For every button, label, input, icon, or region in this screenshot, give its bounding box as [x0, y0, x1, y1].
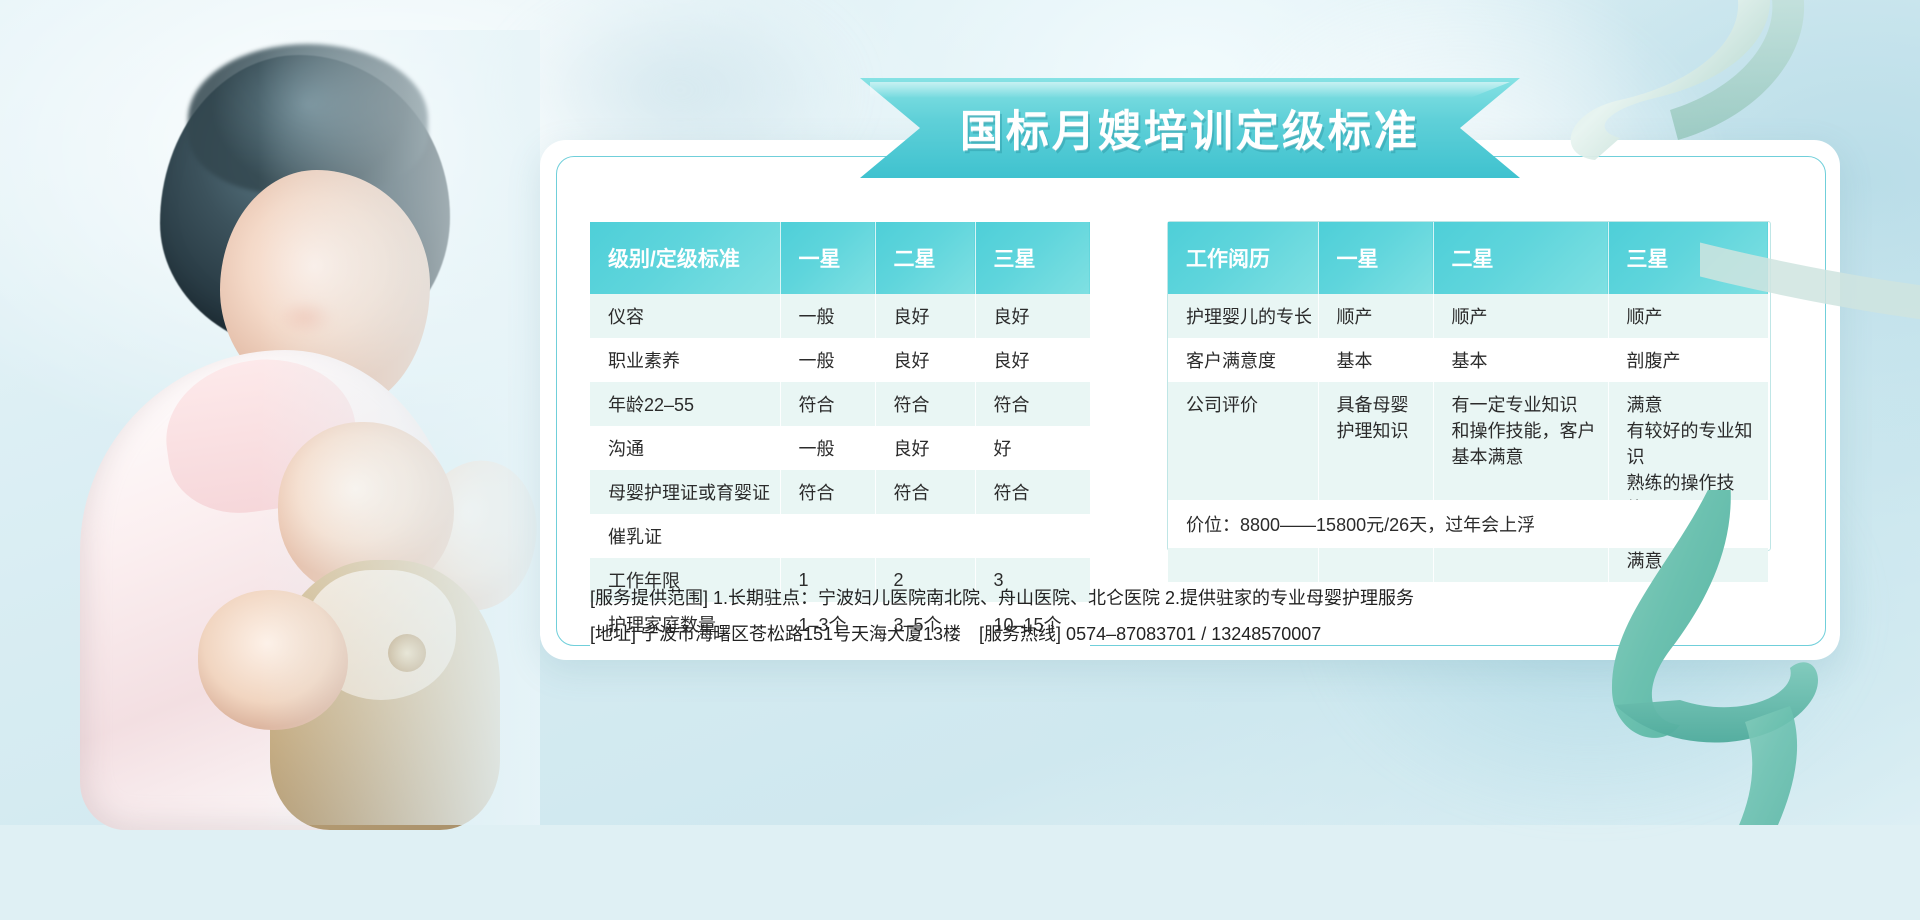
- row-value-cell: 顺产: [1433, 294, 1608, 338]
- col-header-one-star: 一星: [1318, 222, 1433, 294]
- table-header-row: 工作阅历 一星 二星 三星: [1168, 222, 1768, 294]
- row-value-cell: 符合: [875, 470, 975, 514]
- row-label-cell: 沟通: [590, 426, 780, 470]
- row-value-cell: 有一定专业知识和操作技能，客户基本满意: [1433, 382, 1608, 582]
- col-header-three-star: 三星: [1608, 222, 1768, 294]
- table-row: 沟通一般良好好: [590, 426, 1090, 470]
- col-header-one-star: 一星: [780, 222, 875, 294]
- nanny-and-baby-photo: [70, 30, 540, 825]
- table-row: 催乳证: [590, 514, 1090, 558]
- row-label-cell: 母婴护理证或育婴证: [590, 470, 780, 514]
- table-row: 母婴护理证或育婴证符合符合符合: [590, 470, 1090, 514]
- table-header-row: 级别/定级标准 一星 二星 三星: [590, 222, 1090, 294]
- row-value-cell: 符合: [780, 470, 875, 514]
- col-header-criteria: 级别/定级标准: [590, 222, 780, 294]
- row-value-cell: 良好: [975, 294, 1090, 338]
- table-row: 仪容一般良好良好: [590, 294, 1090, 338]
- photo-fade-mask: [70, 30, 540, 825]
- row-label-cell: 职业素养: [590, 338, 780, 382]
- row-label-cell: 公司评价: [1168, 382, 1318, 582]
- footer-address-hotline: [地址] 宁波市海曙区苍松路151号天海大厦13楼 [服务热线] 0574–87…: [590, 616, 1740, 652]
- row-value-cell: 符合: [975, 470, 1090, 514]
- table-row: 护理婴儿的专长顺产顺产顺产: [1168, 294, 1768, 338]
- row-value-cell: 具备母婴护理知识: [1318, 382, 1433, 582]
- row-value-cell: 一般: [780, 294, 875, 338]
- row-value-cell: 基本: [1433, 338, 1608, 382]
- row-value-cell: 符合: [875, 382, 975, 426]
- row-value-cell: 基本: [1318, 338, 1433, 382]
- col-header-experience: 工作阅历: [1168, 222, 1318, 294]
- col-header-two-star: 二星: [875, 222, 975, 294]
- row-label-cell: 护理婴儿的专长: [1168, 294, 1318, 338]
- col-header-two-star: 二星: [1433, 222, 1608, 294]
- title-banner: 国标月嫂培训定级标准: [860, 78, 1520, 178]
- col-header-three-star: 三星: [975, 222, 1090, 294]
- row-label-cell: 催乳证: [590, 514, 780, 558]
- row-value-cell: 满意有较好的专业知识熟练的操作技能，工作积极，客户较满意: [1608, 382, 1768, 582]
- table-row: 公司评价具备母婴护理知识有一定专业知识和操作技能，客户基本满意满意有较好的专业知…: [1168, 382, 1768, 582]
- row-value-cell: [975, 514, 1090, 558]
- row-value-cell: [780, 514, 875, 558]
- row-value-cell: 顺产: [1608, 294, 1768, 338]
- row-label-cell: 客户满意度: [1168, 338, 1318, 382]
- page-title: 国标月嫂培训定级标准: [860, 78, 1520, 178]
- row-label-cell: 年龄22–55: [590, 382, 780, 426]
- row-value-cell: 良好: [875, 338, 975, 382]
- row-value-cell: 良好: [875, 426, 975, 470]
- row-value-cell: 好: [975, 426, 1090, 470]
- row-value-cell: 符合: [780, 382, 875, 426]
- row-value-cell: [875, 514, 975, 558]
- table-row: 客户满意度基本基本剖腹产: [1168, 338, 1768, 382]
- row-label-cell: 仪容: [590, 294, 780, 338]
- price-note: 价位：8800——15800元/26天，过年会上浮: [1168, 500, 1768, 548]
- row-value-cell: 一般: [780, 338, 875, 382]
- table-row: 职业素养一般良好良好: [590, 338, 1090, 382]
- row-value-cell: 一般: [780, 426, 875, 470]
- footer-service-scope: [服务提供范围] 1.长期驻点：宁波妇儿医院南北院、舟山医院、北仑医院 2.提供…: [590, 580, 1740, 616]
- row-value-cell: 顺产: [1318, 294, 1433, 338]
- row-value-cell: 良好: [975, 338, 1090, 382]
- row-value-cell: 剖腹产: [1608, 338, 1768, 382]
- row-value-cell: 良好: [875, 294, 975, 338]
- row-value-cell: 符合: [975, 382, 1090, 426]
- table-row: 年龄22–55符合符合符合: [590, 382, 1090, 426]
- footer-info: [服务提供范围] 1.长期驻点：宁波妇儿医院南北院、舟山医院、北仑医院 2.提供…: [590, 580, 1740, 652]
